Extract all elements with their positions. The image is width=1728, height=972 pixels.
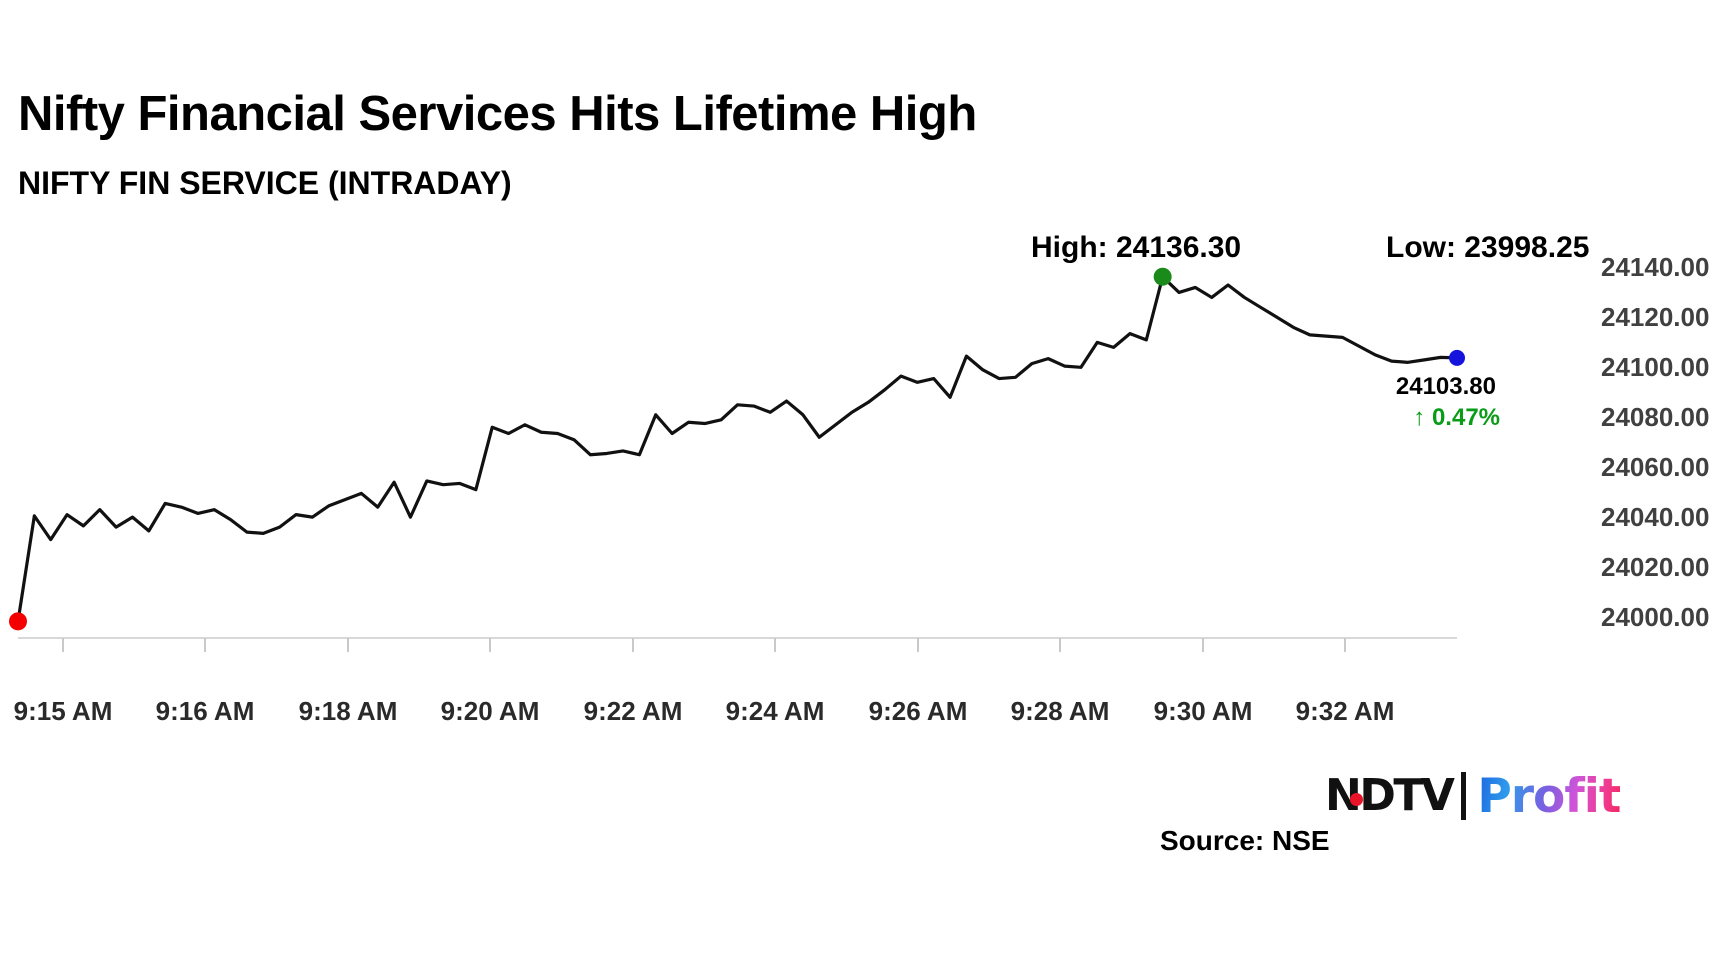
x-axis-tick-label-5: 9:24 AM [726, 698, 825, 724]
chart-page: Nifty Financial Services Hits Lifetime H… [0, 0, 1728, 972]
last-price-label: 24103.80 [1396, 375, 1496, 399]
price-markers [9, 268, 1465, 631]
marker-high [1154, 268, 1172, 286]
marker-last [1449, 350, 1465, 366]
y-axis-tick-3: 24060.00 [1601, 454, 1709, 480]
profit-wordmark: Profit [1477, 773, 1620, 820]
y-axis-tick-6: 24120.00 [1601, 304, 1709, 330]
x-axis-tick-label-8: 9:30 AM [1154, 698, 1253, 724]
marker-low-open [9, 612, 27, 630]
page-title: Nifty Financial Services Hits Lifetime H… [18, 90, 977, 139]
x-axis-tick-label-4: 9:22 AM [584, 698, 683, 724]
chart-svg [0, 240, 1600, 685]
x-axis-tick-label-0: 9:15 AM [14, 698, 113, 724]
y-axis-tick-7: 24140.00 [1601, 254, 1709, 280]
axis-lines [18, 638, 1457, 652]
source-label: Source: NSE [1160, 827, 1330, 855]
last-change-label: ↑ 0.47% [1413, 406, 1500, 430]
x-axis-tick-label-7: 9:28 AM [1011, 698, 1110, 724]
logo-divider [1461, 772, 1466, 820]
ndtv-profit-logo: NDTV Profit [1325, 770, 1620, 822]
price-line [18, 277, 1457, 622]
ndtv-wordmark: NDTV [1325, 774, 1452, 818]
x-axis-tick-label-6: 9:26 AM [869, 698, 968, 724]
ndtv-text: NDTV [1325, 770, 1452, 821]
y-axis-tick-1: 24020.00 [1601, 554, 1709, 580]
y-axis-tick-5: 24100.00 [1601, 354, 1709, 380]
x-axis-tick-label-9: 9:32 AM [1296, 698, 1395, 724]
x-axis-tick-label-1: 9:16 AM [156, 698, 255, 724]
intraday-line-chart [0, 240, 1600, 685]
x-axis-tick-label-2: 9:18 AM [299, 698, 398, 724]
page-subtitle: NIFTY FIN SERVICE (INTRADAY) [18, 167, 512, 199]
y-axis-tick-0: 24000.00 [1601, 604, 1709, 630]
x-axis-tick-label-3: 9:20 AM [441, 698, 540, 724]
y-axis-tick-4: 24080.00 [1601, 404, 1709, 430]
ndtv-red-dot-icon [1350, 793, 1363, 806]
y-axis-tick-2: 24040.00 [1601, 504, 1709, 530]
